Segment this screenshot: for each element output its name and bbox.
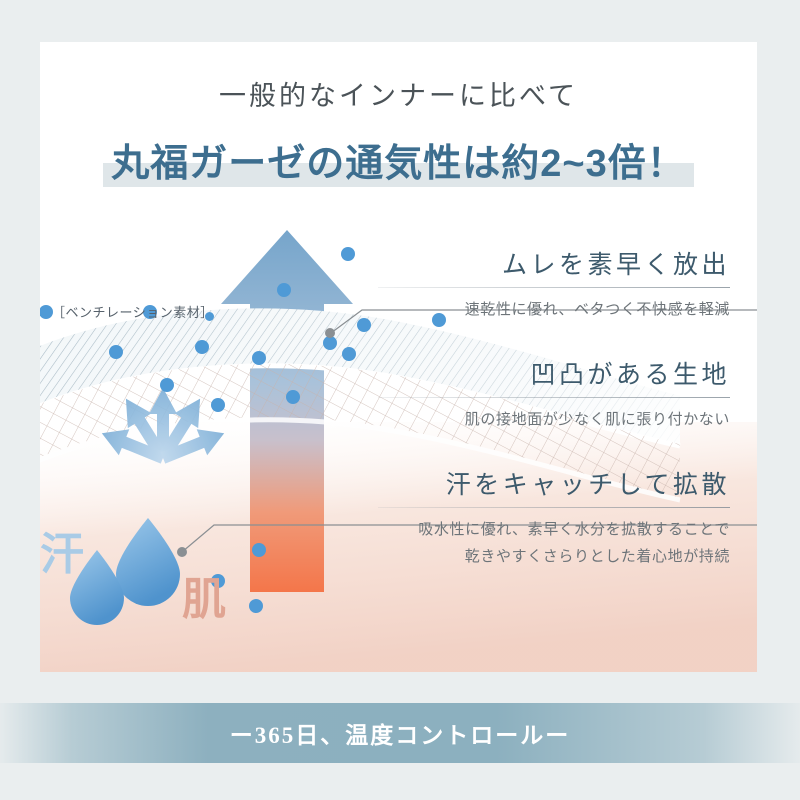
feature-description-line1: 吸水性に優れ、素早く水分を拡散することで [378, 517, 730, 543]
feature-title: 凹凸がある生地 [378, 360, 730, 391]
feature-divider [378, 287, 730, 288]
leader-dot-3 [177, 547, 187, 557]
feature-description: 肌の接地面が少なく肌に張り付かない [378, 407, 730, 433]
feature-item-1: ムレを素早く放出 速乾性に優れ、ベタつく不快感を軽減 [378, 250, 730, 324]
feature-title: ムレを素早く放出 [378, 250, 730, 281]
feature-description-line2: 乾きやすくさらりとした着心地が持続 [378, 544, 730, 570]
feature-description: 速乾性に優れ、ベタつく不快感を軽減 [378, 297, 730, 323]
headline-subtitle: 一般的なインナーに比べて [40, 74, 757, 113]
headline-title-text: 丸福ガーゼの通気性は約2~3倍！ [111, 143, 685, 185]
sweat-label: 汗 [40, 533, 84, 577]
feature-item-2: 凹凸がある生地 肌の接地面が少なく肌に張り付かない [378, 360, 730, 434]
feature-divider [378, 507, 730, 508]
infographic-root: 一般的なインナーに比べて 丸福ガーゼの通気性は約2~3倍！ [0, 0, 800, 800]
ventilation-label: ［ベンチレーション素材］ [52, 302, 214, 321]
feature-divider [378, 397, 730, 398]
ventilation-dot [205, 312, 214, 321]
skin-label: 肌 [182, 578, 226, 622]
headline-title: 丸福ガーゼの通気性は約2~3倍！ [107, 132, 689, 187]
feature-item-3: 汗をキャッチして拡散 吸水性に優れ、素早く水分を拡散することで 乾きやすくさらり… [378, 470, 730, 570]
leader-dot-1 [325, 328, 335, 338]
feature-title: 汗をキャッチして拡散 [378, 470, 730, 501]
bottom-banner-text: ー365日、温度コントロールー [0, 703, 800, 763]
headline-title-wrap: 丸福ガーゼの通気性は約2~3倍！ [40, 132, 757, 187]
